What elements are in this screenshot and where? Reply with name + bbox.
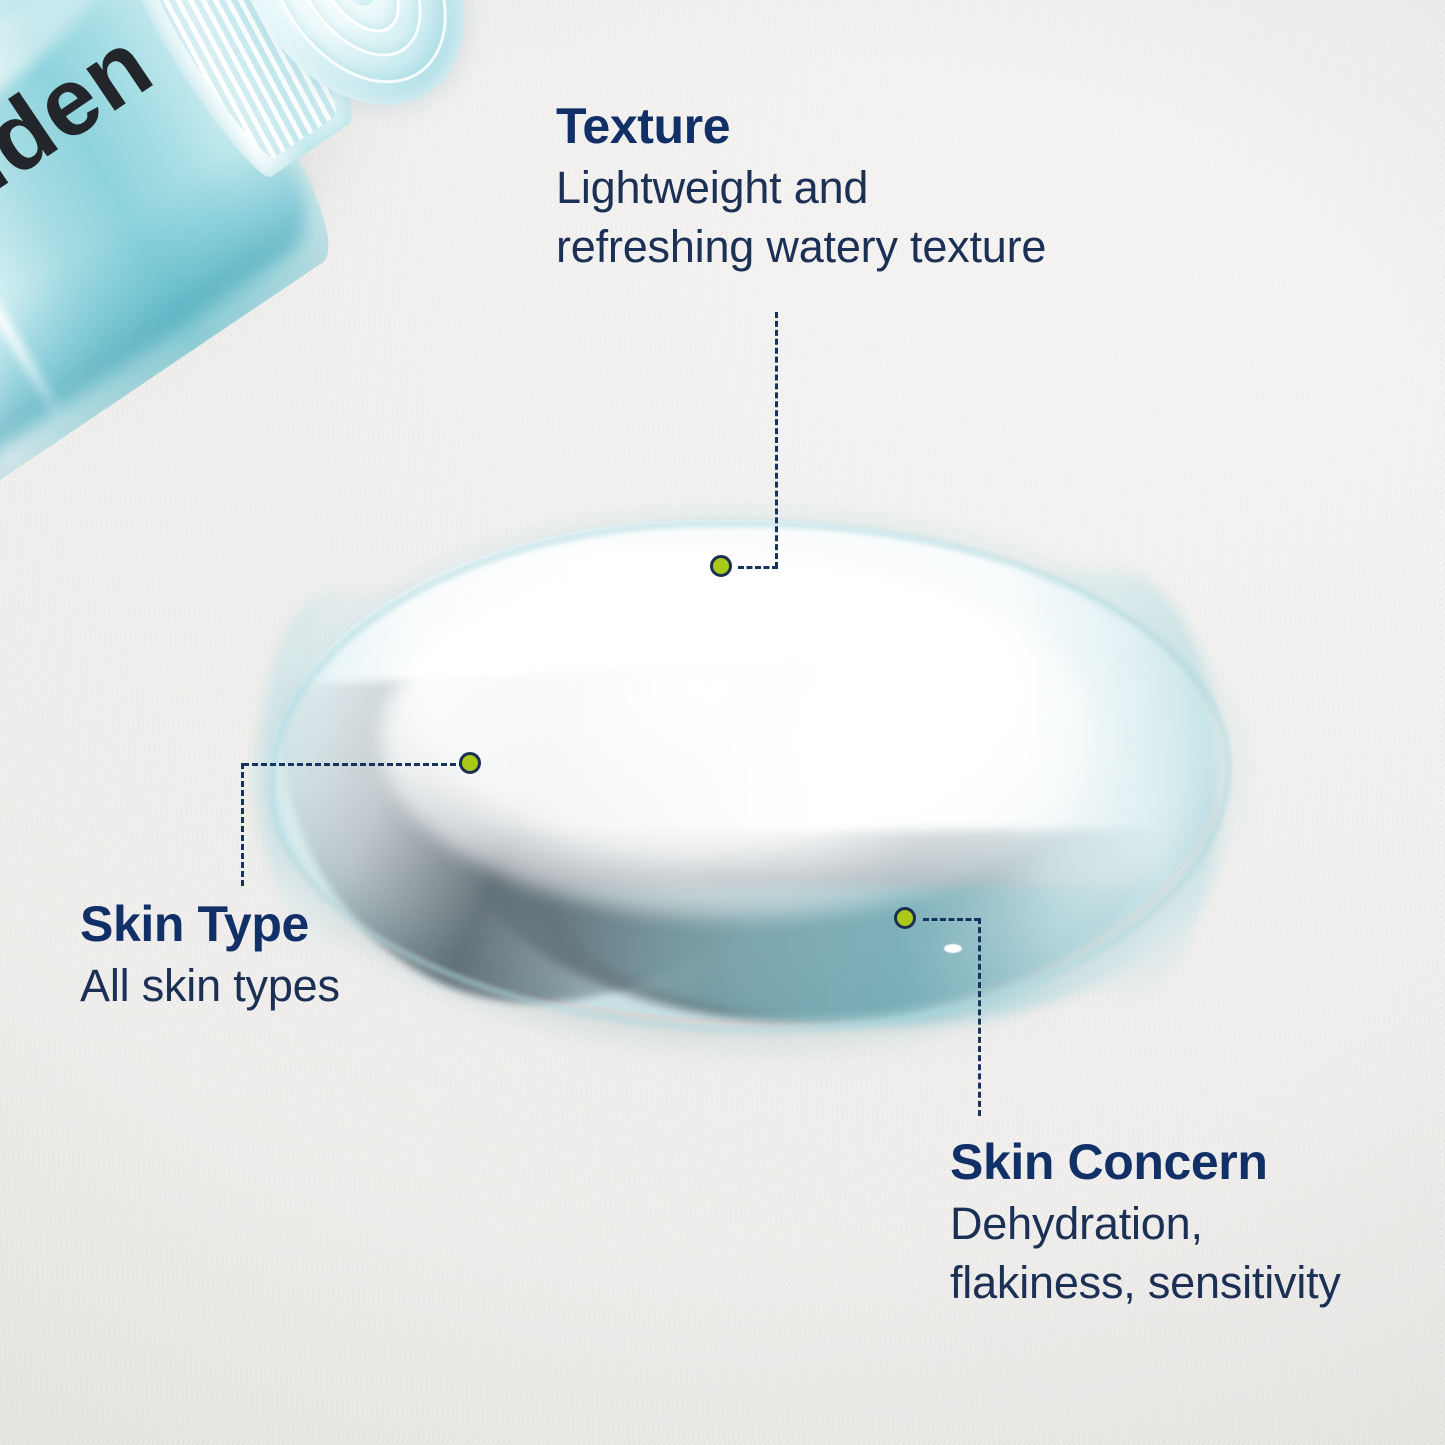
leader-segment-vertical <box>775 312 778 568</box>
callout-title-texture: Texture <box>556 100 1046 153</box>
callout-description-texture: Lightweight and refreshing watery textur… <box>556 159 1046 276</box>
marker-dot-skin-concern <box>894 907 916 929</box>
marker-dot-skin-type <box>459 752 481 774</box>
leader-segment-horizontal <box>738 566 778 569</box>
infographic-canvas: DIVE IN Torriden <box>0 0 1445 1445</box>
callout-title-skin-type: Skin Type <box>80 898 340 951</box>
callout-skin-concern: Skin Concern Dehydration, flakiness, sen… <box>950 1136 1341 1312</box>
marker-dot-texture <box>710 555 732 577</box>
callout-description-skin-concern: Dehydration, flakiness, sensitivity <box>950 1195 1341 1312</box>
serum-droplet-image <box>250 500 1240 1080</box>
leader-segment-vertical <box>241 763 244 886</box>
droplet-outer-glow <box>256 508 1248 1052</box>
callout-description-skin-type: All skin types <box>80 957 340 1016</box>
callout-title-skin-concern: Skin Concern <box>950 1136 1341 1189</box>
callout-skin-type: Skin Type All skin types <box>80 898 340 1016</box>
droplet-specular-speck <box>944 944 962 953</box>
leader-segment-vertical <box>978 918 981 1116</box>
leader-segment-horizontal <box>243 763 465 766</box>
callout-texture: Texture Lightweight and refreshing water… <box>556 100 1046 276</box>
leader-segment-horizontal <box>923 918 980 921</box>
